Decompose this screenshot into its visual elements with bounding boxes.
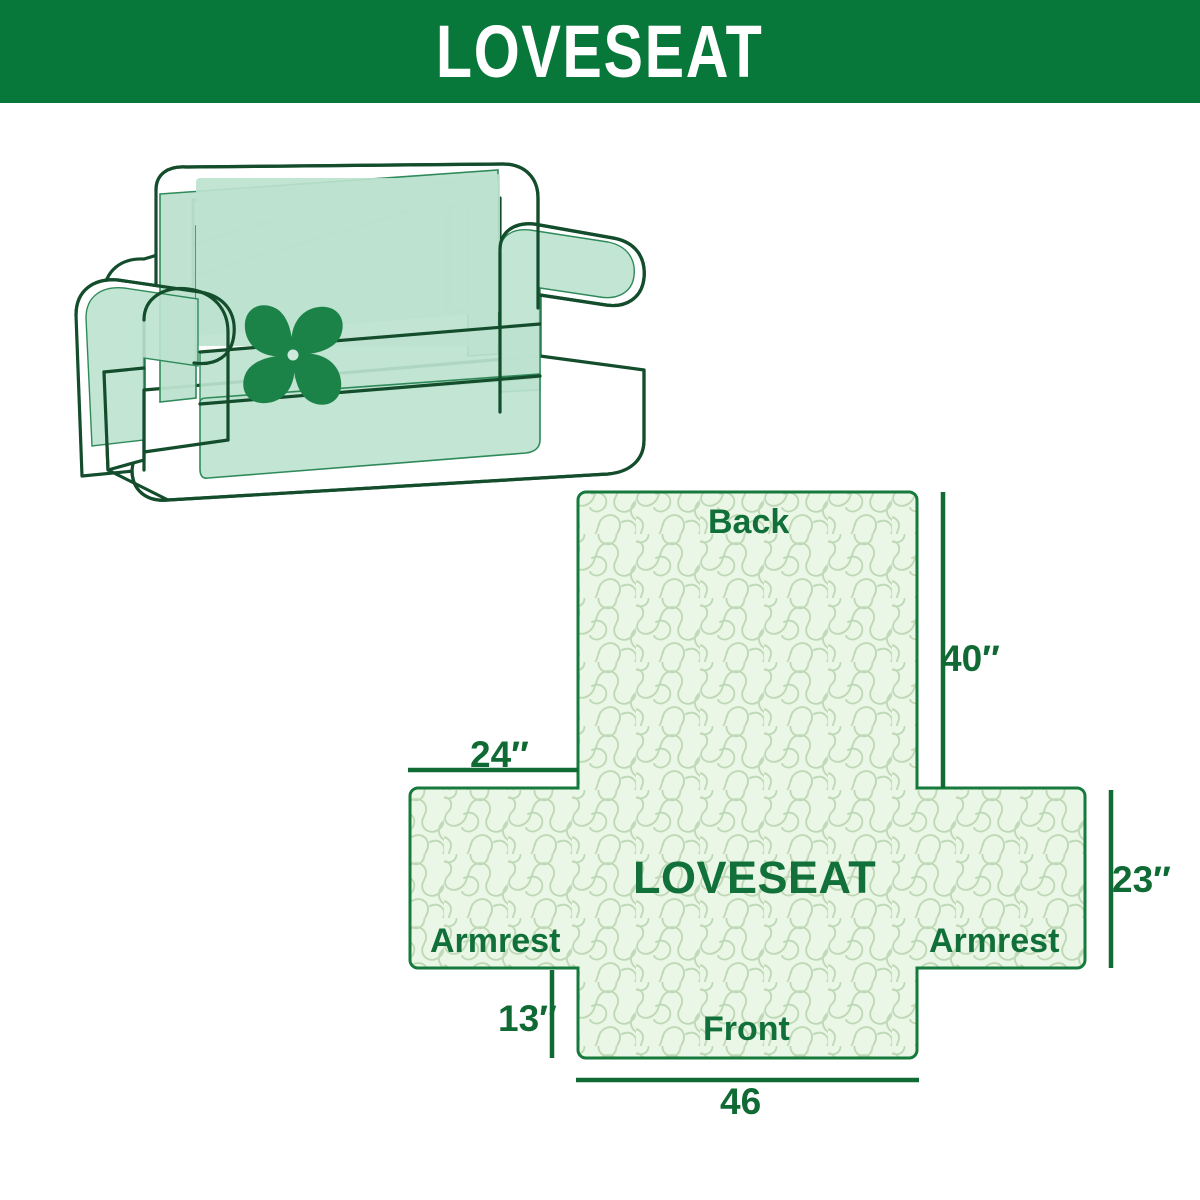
page-title: LOVESEAT — [436, 15, 763, 89]
panel-label-armrest-left: Armrest — [430, 924, 560, 958]
dimension-label-front-width: 46 — [720, 1083, 761, 1120]
panel-label-center: LOVESEAT — [633, 855, 876, 900]
panel-label-back: Back — [708, 505, 789, 539]
page-root: LOVESEAT — [0, 0, 1200, 1200]
dimension-label-back-height: 40″ — [941, 640, 1000, 677]
panel-label-armrest-right: Armrest — [929, 924, 1059, 958]
dimension-label-back-offset-width: 24″ — [470, 736, 529, 773]
header-banner: LOVESEAT — [0, 0, 1200, 103]
slipcover-cross-shape — [410, 492, 1085, 1058]
panel-label-front: Front — [703, 1012, 790, 1046]
dimension-label-front-offset-height: 13″ — [498, 1000, 557, 1037]
dimension-label-armrest-height: 23″ — [1112, 861, 1171, 898]
